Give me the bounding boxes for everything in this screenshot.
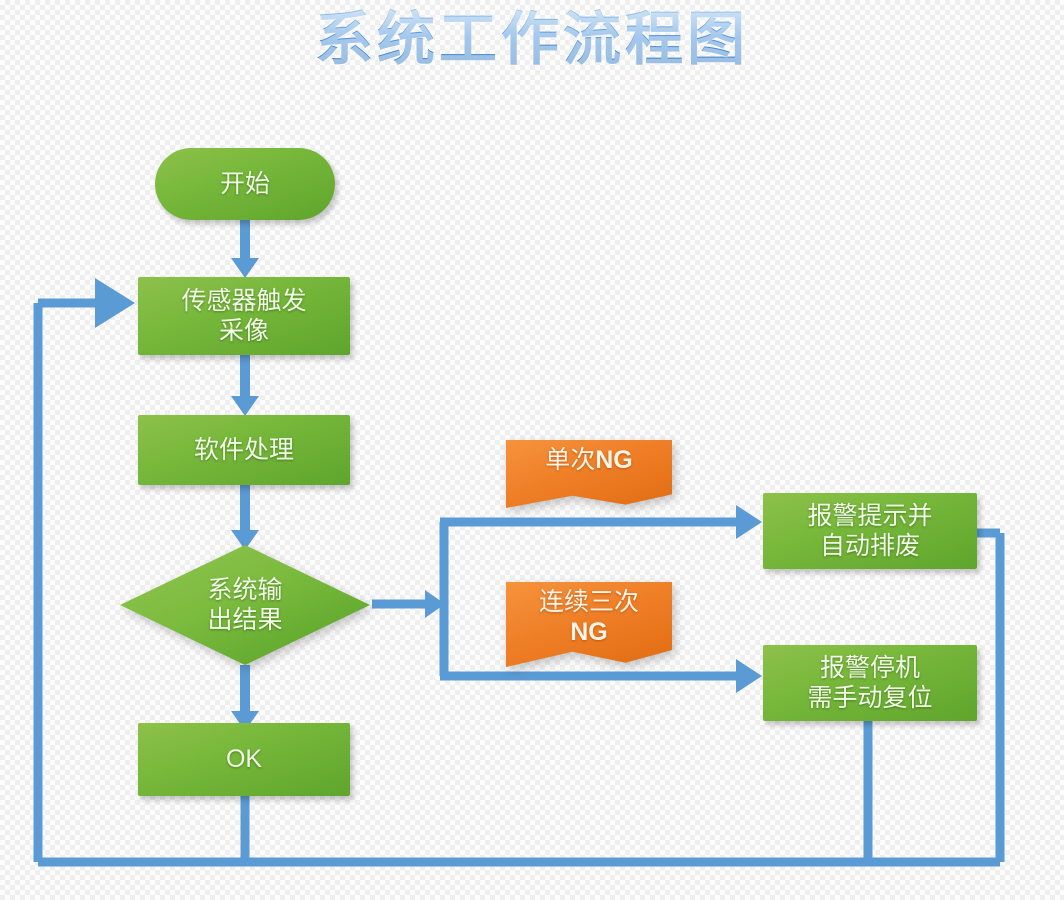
node-ok-label: OK: [226, 744, 262, 775]
node-decision-line2: 出结果: [207, 605, 282, 636]
banner-single-ng-cn: 单次: [545, 445, 595, 474]
node-start[interactable]: 开始: [155, 148, 335, 220]
arrowhead-to-autoreject: [736, 505, 762, 539]
banner-triple-ng-line2: NG: [506, 617, 672, 648]
node-decision-line1: 系统输: [207, 575, 282, 606]
flowchart-canvas: 系统工作流程图: [0, 0, 1064, 900]
arrowhead-to-sensor: [231, 258, 259, 278]
node-decision[interactable]: 系统输 出结果: [120, 545, 370, 665]
node-sensor-trigger-line1: 传感器触发: [181, 286, 306, 317]
banner-triple-ng-line1: 连续三次: [506, 586, 672, 617]
node-alarm-auto-reject-line1: 报警提示并: [807, 501, 932, 532]
banner-triple-ng-label: 连续三次 NG: [506, 586, 672, 649]
node-alarm-stop-manual-line2: 需手动复位: [807, 683, 932, 714]
node-alarm-stop-manual[interactable]: 报警停机 需手动复位: [763, 645, 977, 721]
banner-triple-ng[interactable]: 连续三次 NG: [506, 582, 672, 667]
node-alarm-auto-reject-line2: 自动排废: [820, 531, 920, 562]
node-sensor-trigger[interactable]: 传感器触发 采像: [138, 277, 350, 355]
node-decision-label: 系统输 出结果: [120, 545, 370, 665]
banner-single-ng[interactable]: 单次NG: [506, 440, 672, 508]
node-software-process-label: 软件处理: [194, 435, 294, 466]
node-start-label: 开始: [220, 169, 270, 200]
arrowhead-to-alarmstop: [736, 659, 762, 693]
node-software-process[interactable]: 软件处理: [138, 415, 350, 485]
arrowhead-to-software: [231, 396, 259, 416]
node-sensor-trigger-line2: 采像: [219, 316, 269, 347]
node-ok[interactable]: OK: [138, 723, 350, 796]
banner-single-ng-label: 单次NG: [506, 444, 672, 476]
node-alarm-auto-reject[interactable]: 报警提示并 自动排废: [763, 493, 977, 569]
node-alarm-stop-manual-line1: 报警停机: [820, 653, 920, 684]
banner-single-ng-lat: NG: [595, 446, 633, 474]
